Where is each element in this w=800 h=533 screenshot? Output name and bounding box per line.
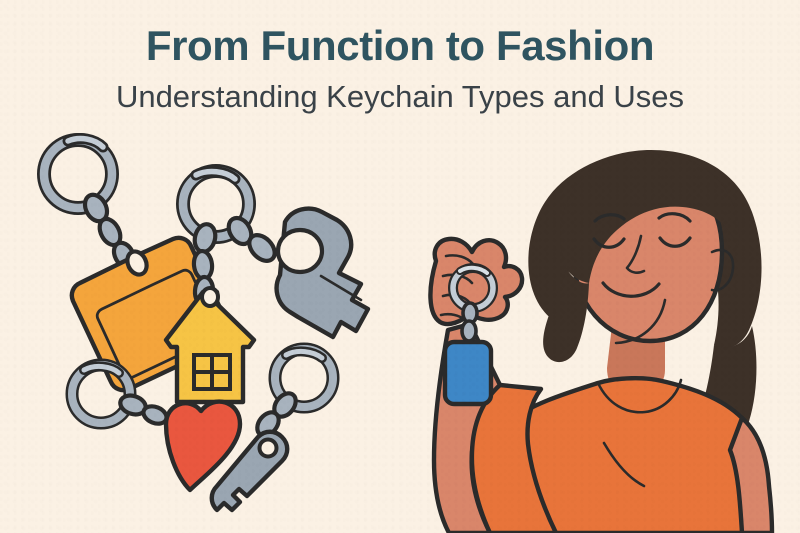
house-hole bbox=[202, 288, 218, 306]
blue-chain-link-2 bbox=[462, 321, 476, 341]
page-title: From Function to Fashion bbox=[0, 24, 800, 68]
key-bow-hole bbox=[278, 230, 322, 272]
illustration-canvas: .ol{stroke:#2B2B2B;stroke-width:4.4;stro… bbox=[0, 0, 800, 533]
heading-block: From Function to Fashion Understanding K… bbox=[0, 24, 800, 116]
blue-tag-body bbox=[445, 342, 491, 404]
page-subtitle: Understanding Keychain Types and Uses bbox=[90, 78, 710, 116]
small-key-hole bbox=[260, 440, 277, 457]
